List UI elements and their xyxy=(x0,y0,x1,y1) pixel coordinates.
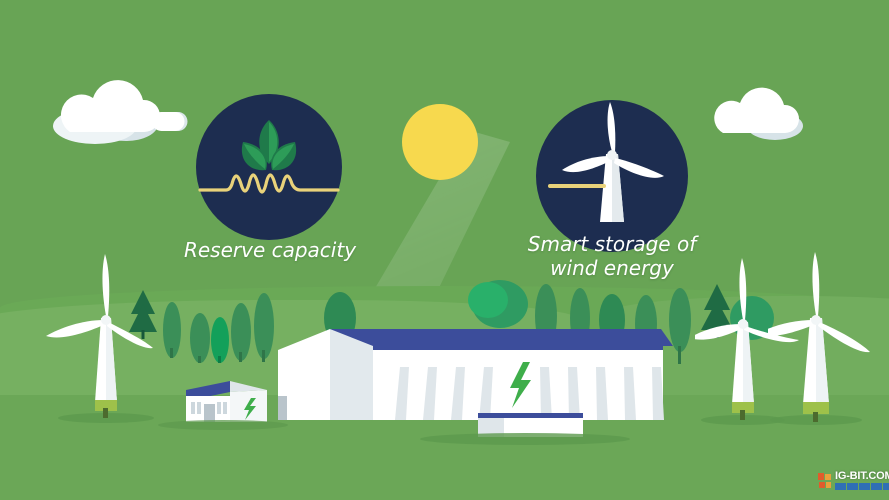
leaves-waveform-icon xyxy=(196,94,342,240)
battery-storage-factory xyxy=(278,312,673,437)
watermark-sub-block xyxy=(847,483,858,490)
wind-turbine-icon xyxy=(536,100,688,252)
illustration-scene: Reserve capacity Smart storage of wind e… xyxy=(0,0,889,500)
wind-turbine-right-front xyxy=(768,248,889,428)
sun-icon xyxy=(402,104,478,180)
watermark-sub-block xyxy=(835,483,846,490)
watermark-title: IG-BIT.COM xyxy=(835,471,889,482)
badge-label-smart-storage: Smart storage of wind energy xyxy=(500,232,724,281)
watermark-sub-block xyxy=(883,483,889,490)
badge-label-reserve-capacity: Reserve capacity xyxy=(150,238,390,262)
cloud-small-icon-left xyxy=(151,108,189,136)
ig-bit-logo-icon xyxy=(818,473,832,489)
cloud-icon-right xyxy=(705,78,813,144)
wind-turbine-left xyxy=(40,250,170,425)
badge-smart-storage[interactable] xyxy=(536,100,688,252)
badge-reserve-capacity[interactable] xyxy=(196,94,342,240)
factory-shadow xyxy=(420,430,630,448)
house-shadow xyxy=(158,418,288,432)
watermark-sub-block xyxy=(871,483,882,490)
watermark: IG-BIT.COM xyxy=(818,471,889,490)
watermark-subtitle xyxy=(835,483,889,490)
watermark-sub-block xyxy=(859,483,870,490)
